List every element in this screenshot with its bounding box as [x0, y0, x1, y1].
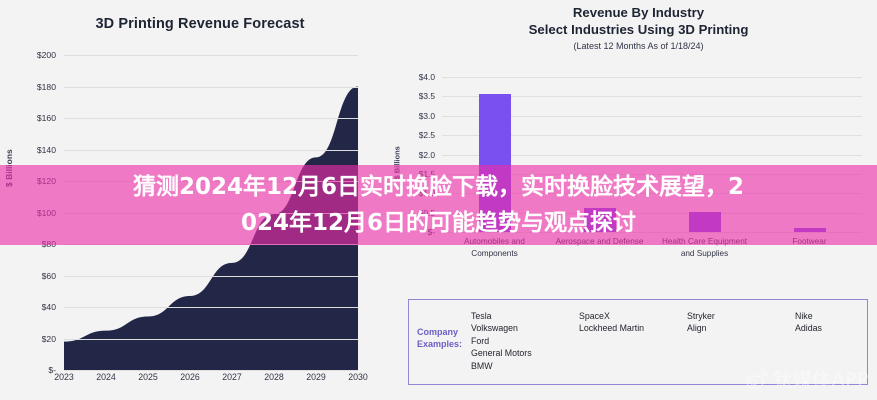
company-name: BMW	[471, 360, 532, 372]
y-axis-tick-label: $4.0	[419, 72, 435, 82]
y-axis-tick-label: $160	[37, 113, 56, 123]
left-chart-title: 3D Printing Revenue Forecast	[0, 16, 400, 32]
right-chart-subtitle: (Latest 12 Months As of 1/18/24)	[400, 41, 877, 51]
watermark: 钛媒体APP	[745, 365, 869, 392]
y-axis-tick-label: $2.0	[419, 150, 435, 160]
right-chart-title-line2: Select Industries Using 3D Printing	[400, 21, 877, 38]
x-axis-tick-label: 2024	[96, 372, 116, 382]
overlay-text-line1: 猜测2024年12月6日实时换脸下载，实时换脸技术展望，2	[133, 174, 744, 200]
company-name: Adidas	[795, 322, 822, 334]
company-name: SpaceX	[579, 310, 644, 322]
y-axis-tick-label: $60	[42, 271, 56, 281]
gridline	[64, 55, 358, 56]
x-axis-tick-label: 2030	[348, 372, 368, 382]
company-name: Nike	[795, 310, 822, 322]
company-name: Stryker	[687, 310, 715, 322]
overlay-text-line2: 024年12月6日的可能趋势与观点探讨	[241, 210, 636, 236]
x-axis-tick-label: 2023	[54, 372, 74, 382]
y-axis-tick-label: $40	[42, 302, 56, 312]
x-axis-tick-label: 2025	[138, 372, 158, 382]
y-axis-tick-label: $3.5	[419, 91, 435, 101]
right-chart-title-line1: Revenue By Industry	[573, 5, 704, 20]
gridline	[64, 339, 358, 340]
y-axis-tick-label: $2.5	[419, 130, 435, 140]
company-example-column: SpaceXLockheed Martin	[579, 310, 644, 335]
company-examples-label: Company Examples:	[417, 326, 471, 350]
gridline	[64, 307, 358, 308]
y-axis-tick-label: $180	[37, 82, 56, 92]
gridline	[442, 77, 862, 78]
x-axis-tick-label: 2029	[306, 372, 326, 382]
gridline	[64, 150, 358, 151]
gridline	[64, 118, 358, 119]
y-axis-tick-label: $200	[37, 50, 56, 60]
right-chart-title: Revenue By Industry Select Industries Us…	[400, 4, 877, 38]
screenshot-root: 3D Printing Revenue Forecast $ Billions …	[0, 0, 877, 400]
x-axis-tick-label: 2028	[264, 372, 284, 382]
company-name: Lockheed Martin	[579, 322, 644, 334]
left-chart-xaxis: 20232024202520262027202820292030	[64, 372, 358, 392]
gridline	[64, 276, 358, 277]
company-examples-label-line1: Company	[417, 326, 471, 338]
company-example-column: StrykerAlign	[687, 310, 715, 335]
company-name: Ford	[471, 335, 532, 347]
company-name: Align	[687, 322, 715, 334]
company-name: Tesla	[471, 310, 532, 322]
title-overlay-banner: 猜测2024年12月6日实时换脸下载，实时换脸技术展望，2 024年12月6日的…	[0, 165, 877, 245]
x-axis-tick-label: 2026	[180, 372, 200, 382]
y-axis-tick-label: $3.0	[419, 111, 435, 121]
watermark-text: 钛媒体APP	[773, 365, 869, 392]
overlay-text: 猜测2024年12月6日实时换脸下载，实时换脸技术展望，2 024年12月6日的…	[29, 169, 849, 241]
y-axis-tick-label: $140	[37, 145, 56, 155]
gridline	[64, 87, 358, 88]
company-name: Volkswagen	[471, 322, 532, 334]
y-axis-tick-label: $20	[42, 334, 56, 344]
company-example-column: TeslaVolkswagenFordGeneral MotorsBMW	[471, 310, 532, 372]
gridline	[64, 370, 358, 371]
weibo-icon	[745, 367, 769, 391]
company-name: General Motors	[471, 347, 532, 359]
company-example-column: NikeAdidas	[795, 310, 822, 335]
x-axis-tick-label: 2027	[222, 372, 242, 382]
company-examples-label-line2: Examples:	[417, 338, 471, 350]
